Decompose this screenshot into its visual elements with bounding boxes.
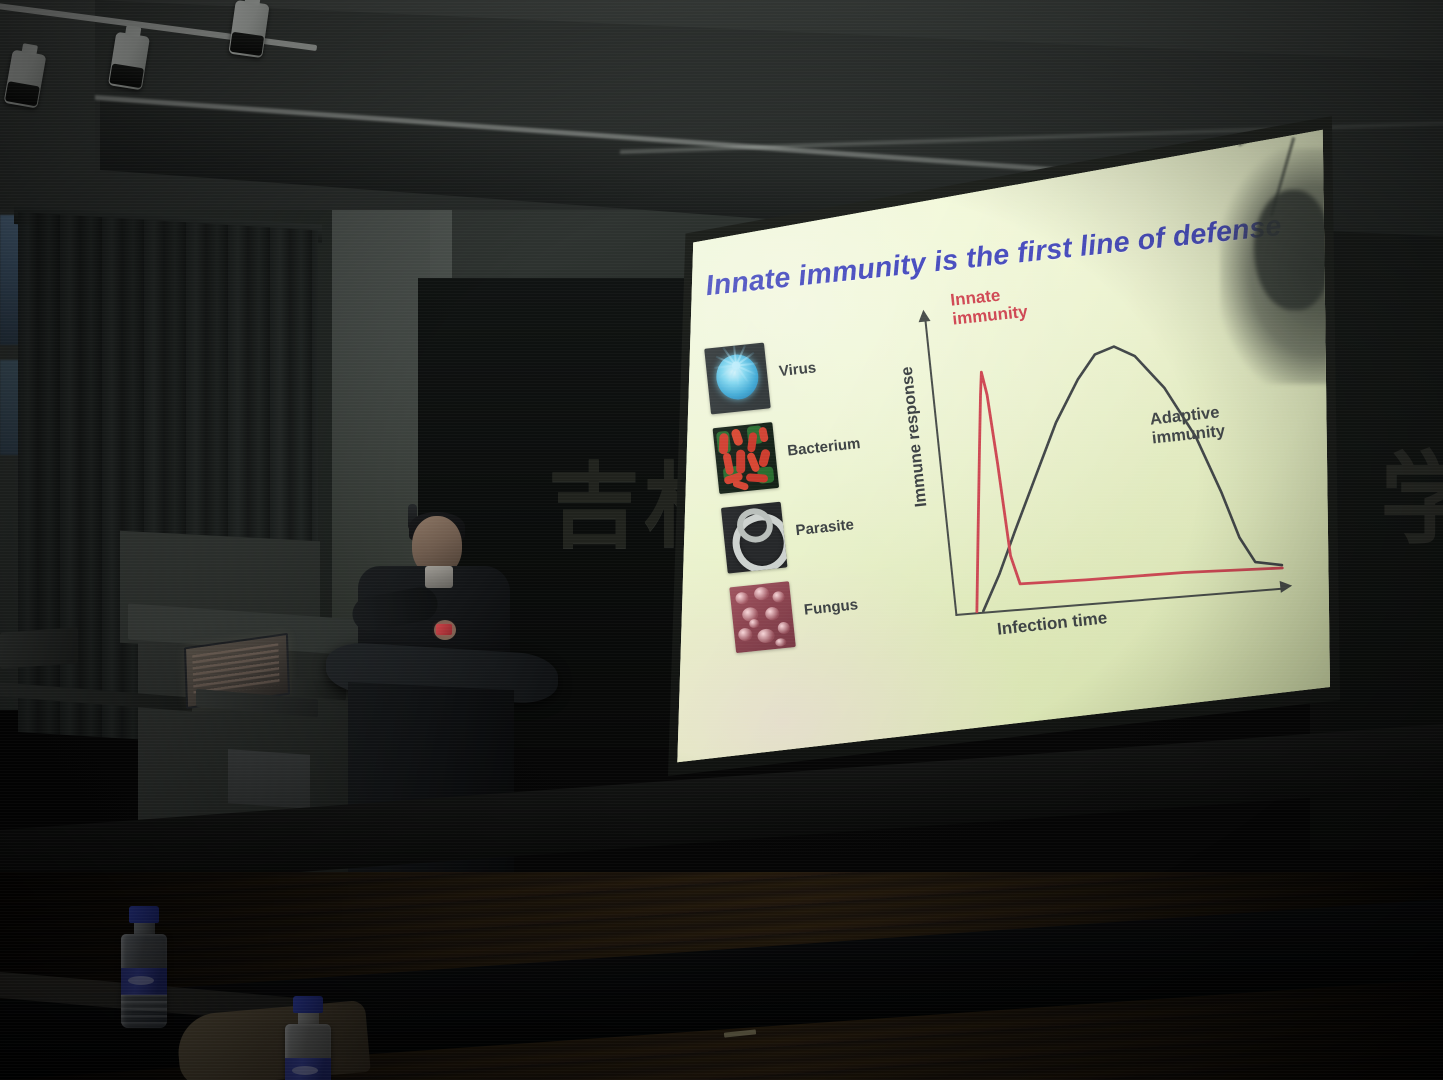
- bottle-cap: [293, 996, 323, 1013]
- laser-pointer: [436, 624, 452, 635]
- bottle-label: [285, 1058, 331, 1080]
- wall-characters-right: 学: [1380, 418, 1443, 563]
- bottle-neck: [298, 1013, 319, 1024]
- bottle-neck: [134, 923, 155, 934]
- bottle-body: [285, 1024, 331, 1080]
- chair: [0, 627, 78, 668]
- bottle-cap: [129, 906, 159, 923]
- bottle-label: [121, 968, 167, 995]
- bottle-body: [121, 934, 167, 1028]
- water-bottle-2: [284, 996, 332, 1080]
- presenter-collar: [425, 566, 453, 588]
- water-bottle-1: [120, 906, 168, 1028]
- av-cart-label-plate: [228, 749, 310, 809]
- bottle-ribs: [121, 994, 167, 1028]
- lecture-hall-photo: 吉林 学 Innate immunity is the first line o…: [0, 0, 1443, 1080]
- projection-screen: Innate immunity is the first line of def…: [668, 116, 1340, 776]
